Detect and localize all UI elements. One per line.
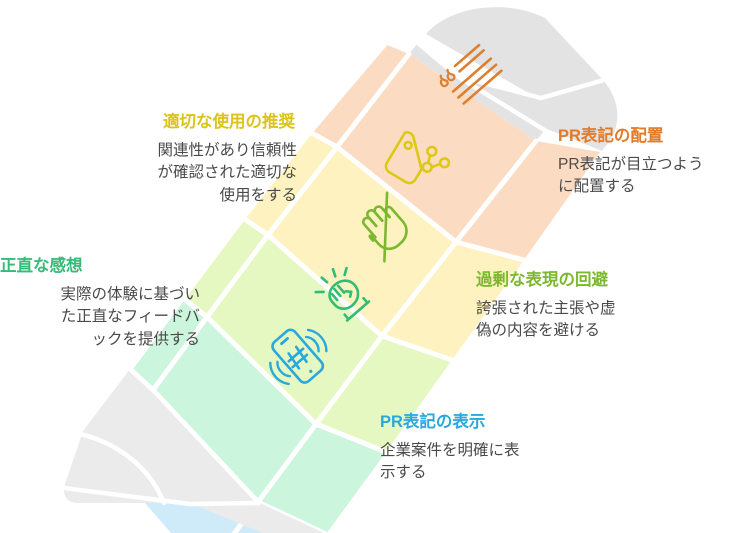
callout-body-line: に配置する — [558, 176, 754, 199]
callout-pr-disclosure: PR表記の表示 企業案件を明確に表 示する — [380, 412, 590, 485]
callout-body: 企業案件を明確に表 示する — [380, 440, 590, 486]
callout-body-line: 使用をする — [0, 185, 297, 208]
callout-body: 実際の体験に基づい た正直なフィードバ ックを提供する — [0, 284, 200, 352]
callout-body-line: が確認された適切な — [0, 162, 297, 185]
callout-body-line: 関連性があり信頼性 — [0, 140, 297, 163]
callout-appropriate-use: 適切な使用の推奨 関連性があり信頼性 が確認された適切な 使用をする — [0, 112, 297, 208]
callout-avoid-exaggeration: 過剰な表現の回避 誇張された主張や虚 偽の内容を避ける — [476, 270, 683, 343]
callout-honest-review: 正直な感想 実際の体験に基づい た正直なフィードバ ックを提供する — [0, 256, 200, 352]
callout-body-line: た正直なフィードバ — [0, 306, 200, 329]
callout-body-line: ックを提供する — [0, 329, 200, 352]
callout-body: 関連性があり信頼性 が確認された適切な 使用をする — [0, 140, 297, 208]
infographic-canvas: PR表記の配置 PR表記が目立つよう に配置する 適切な使用の推奨 関連性があり… — [0, 0, 754, 533]
callout-body-line: 実際の体験に基づい — [0, 284, 200, 307]
callout-pr-placement: PR表記の配置 PR表記が目立つよう に配置する — [558, 126, 754, 199]
callout-title: PR表記の表示 — [380, 412, 590, 433]
callout-body: 誇張された主張や虚 偽の内容を避ける — [476, 298, 683, 344]
callout-body-line: 誇張された主張や虚 — [476, 298, 683, 321]
callout-body-line: 偽の内容を避ける — [476, 320, 683, 343]
callout-title: 正直な感想 — [0, 256, 200, 277]
callout-body-line: 示する — [380, 462, 590, 485]
callout-title: 過剰な表現の回避 — [476, 270, 683, 291]
callout-body-line: 企業案件を明確に表 — [380, 440, 590, 463]
callout-body: PR表記が目立つよう に配置する — [558, 154, 754, 200]
callout-title: PR表記の配置 — [558, 126, 754, 147]
callout-title: 適切な使用の推奨 — [0, 112, 297, 133]
callout-body-line: PR表記が目立つよう — [558, 154, 754, 177]
